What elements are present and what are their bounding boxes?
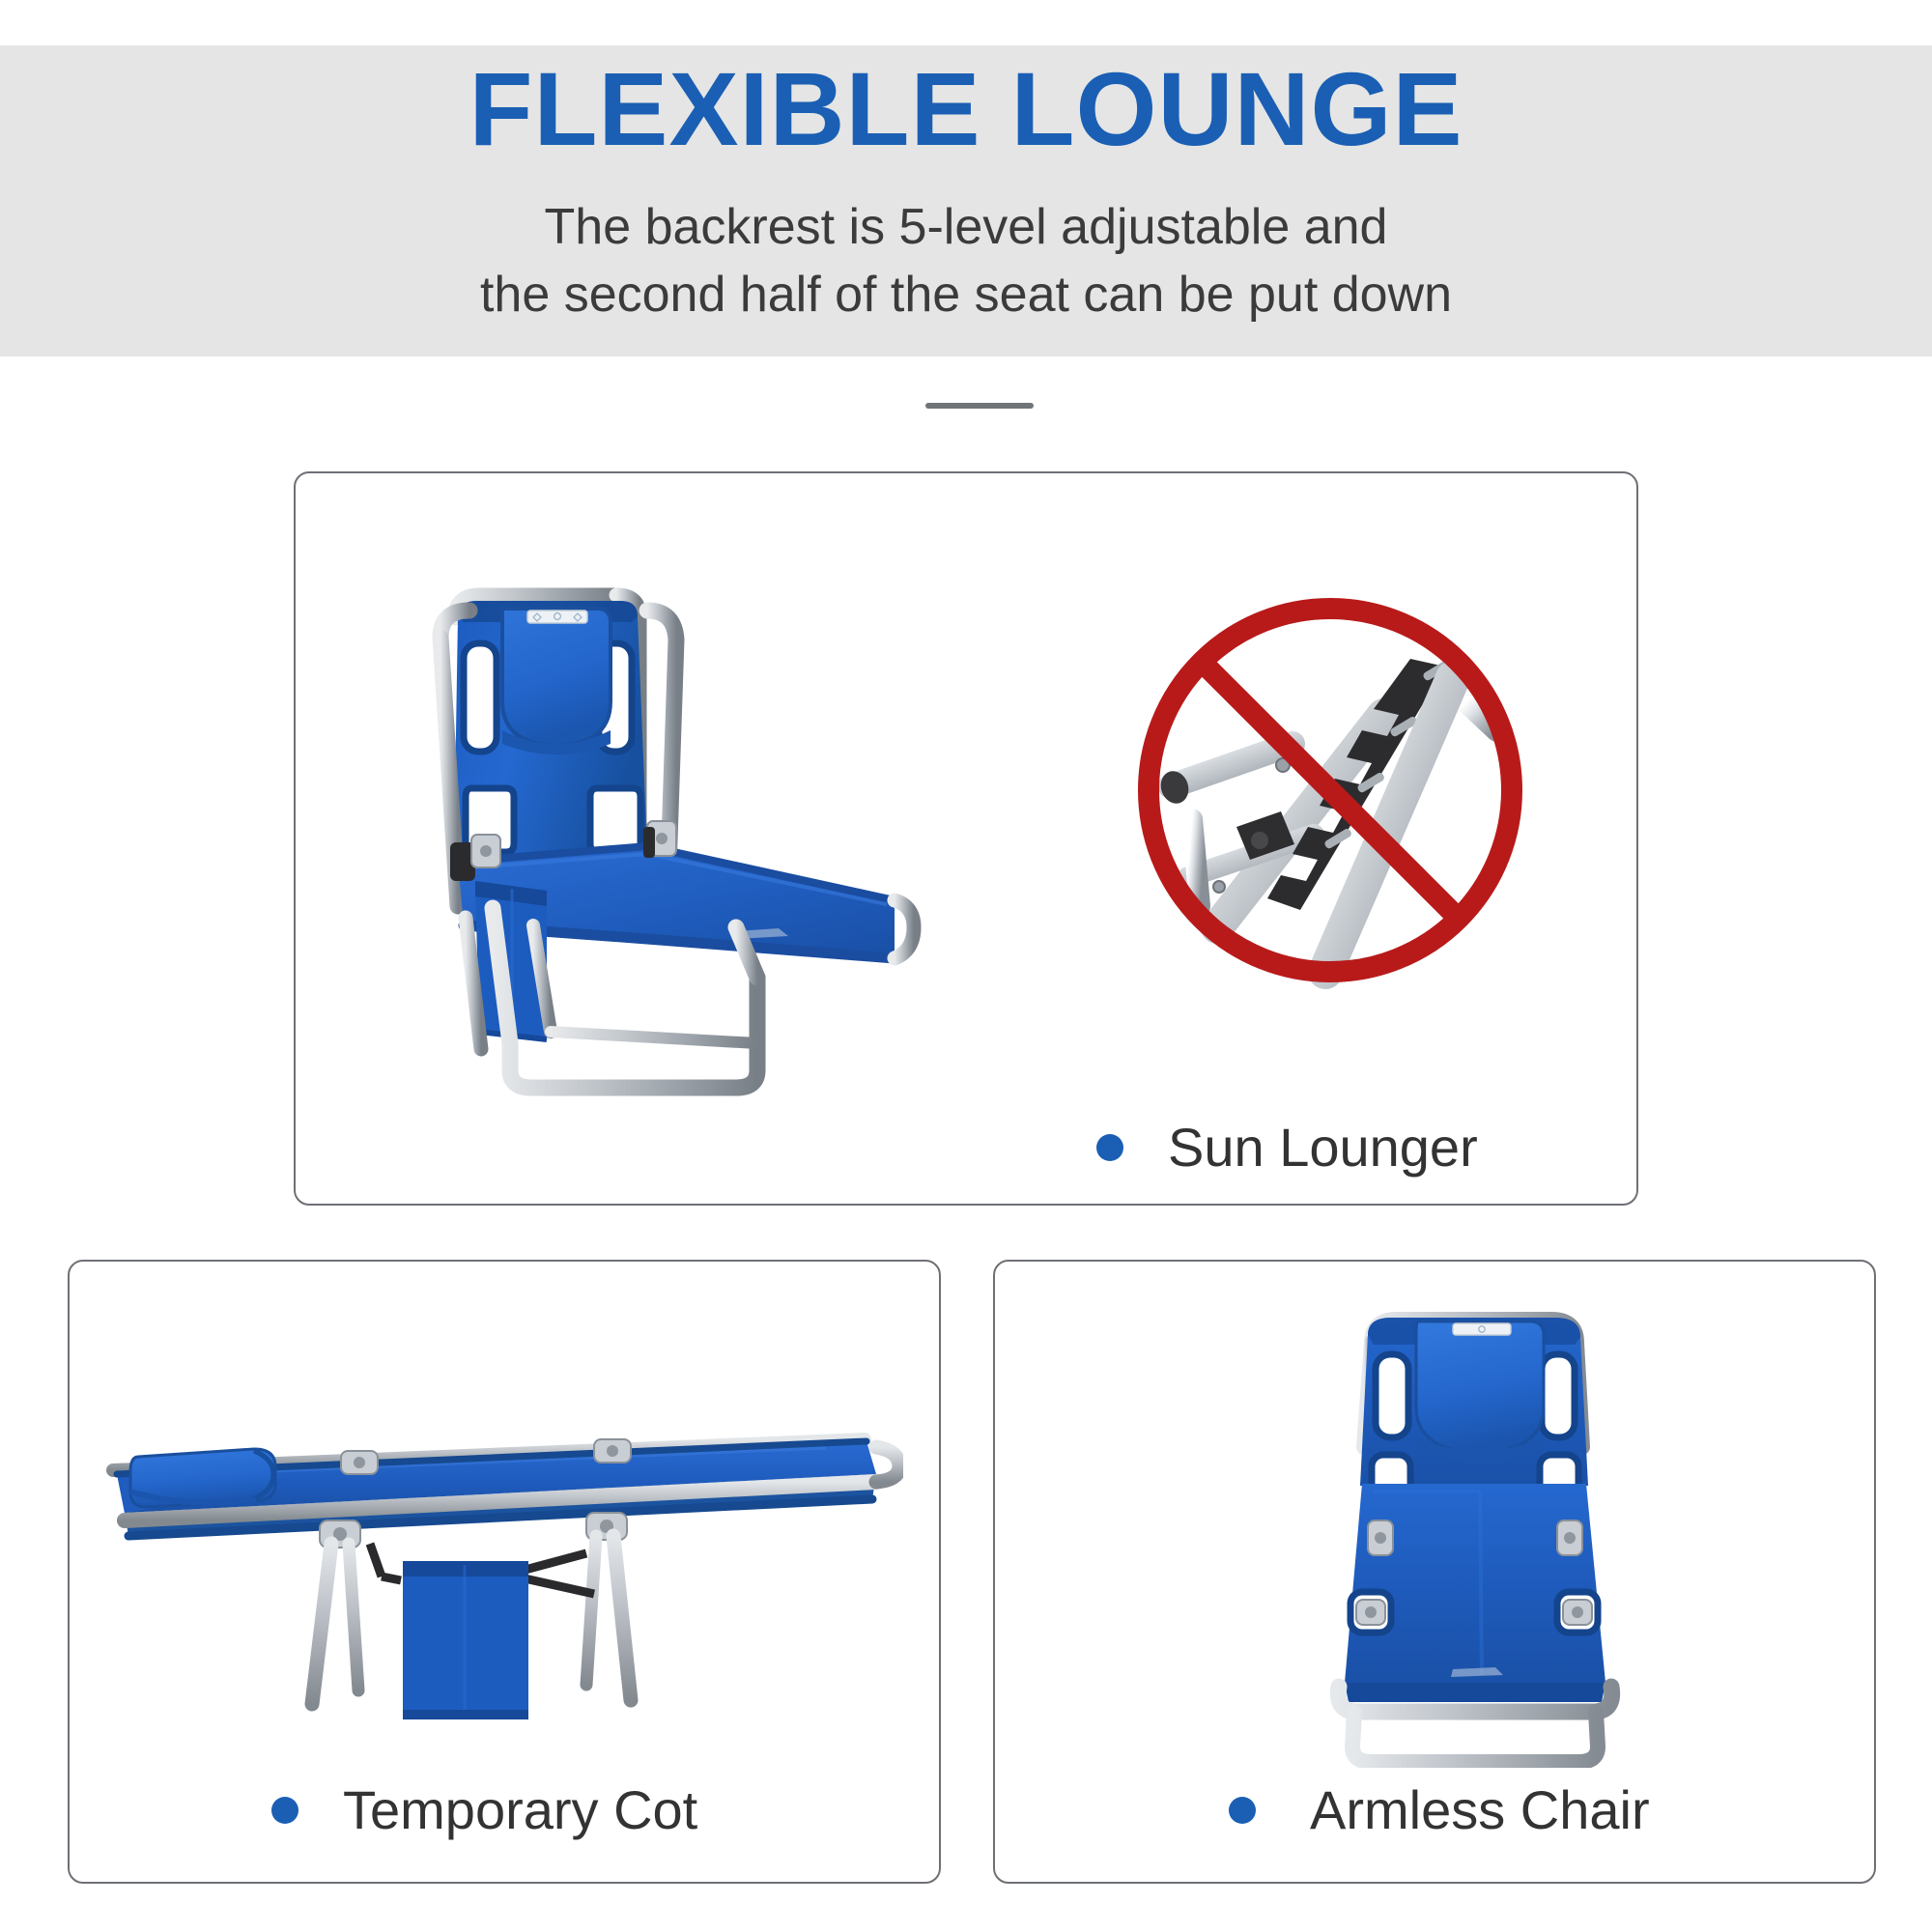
- headrest-pillow: [502, 609, 611, 754]
- lounger-footrest-frame: [895, 900, 914, 958]
- bullet-icon: [1096, 1134, 1123, 1161]
- cot-side-pocket: [403, 1561, 528, 1719]
- temporary-cot-label: Temporary Cot: [343, 1781, 697, 1839]
- sun-lounger-label-row: Sun Lounger: [1096, 1119, 1478, 1177]
- no-adjust-mechanism-badge: [1103, 587, 1557, 993]
- section-divider: [925, 403, 1034, 409]
- armless-chair-label: Armless Chair: [1310, 1781, 1650, 1839]
- armless-chair-seat-fabric: [1345, 1484, 1605, 1702]
- page-title: FLEXIBLE LOUNGE: [0, 52, 1932, 166]
- temporary-cot-illustration: [92, 1391, 903, 1758]
- armless-chair-pillow: [1416, 1321, 1544, 1463]
- care-label-tag: [1453, 1323, 1511, 1335]
- cot-pillow: [130, 1449, 275, 1507]
- subtitle-line-1: The backrest is 5-level adjustable and: [0, 193, 1932, 261]
- subtitle-line-2: the second half of the seat can be put d…: [0, 261, 1932, 328]
- page-subtitle: The backrest is 5-level adjustable and t…: [0, 193, 1932, 328]
- recline-hinge-right: [643, 821, 676, 858]
- armless-chair-illustration: [1246, 1285, 1700, 1768]
- sun-lounger-label: Sun Lounger: [1168, 1119, 1478, 1177]
- temporary-cot-label-row: Temporary Cot: [271, 1781, 697, 1839]
- armless-chair-label-row: Armless Chair: [1229, 1781, 1650, 1839]
- bullet-icon: [271, 1797, 298, 1824]
- sun-lounger-illustration: [357, 502, 1072, 1179]
- bullet-icon: [1229, 1797, 1256, 1824]
